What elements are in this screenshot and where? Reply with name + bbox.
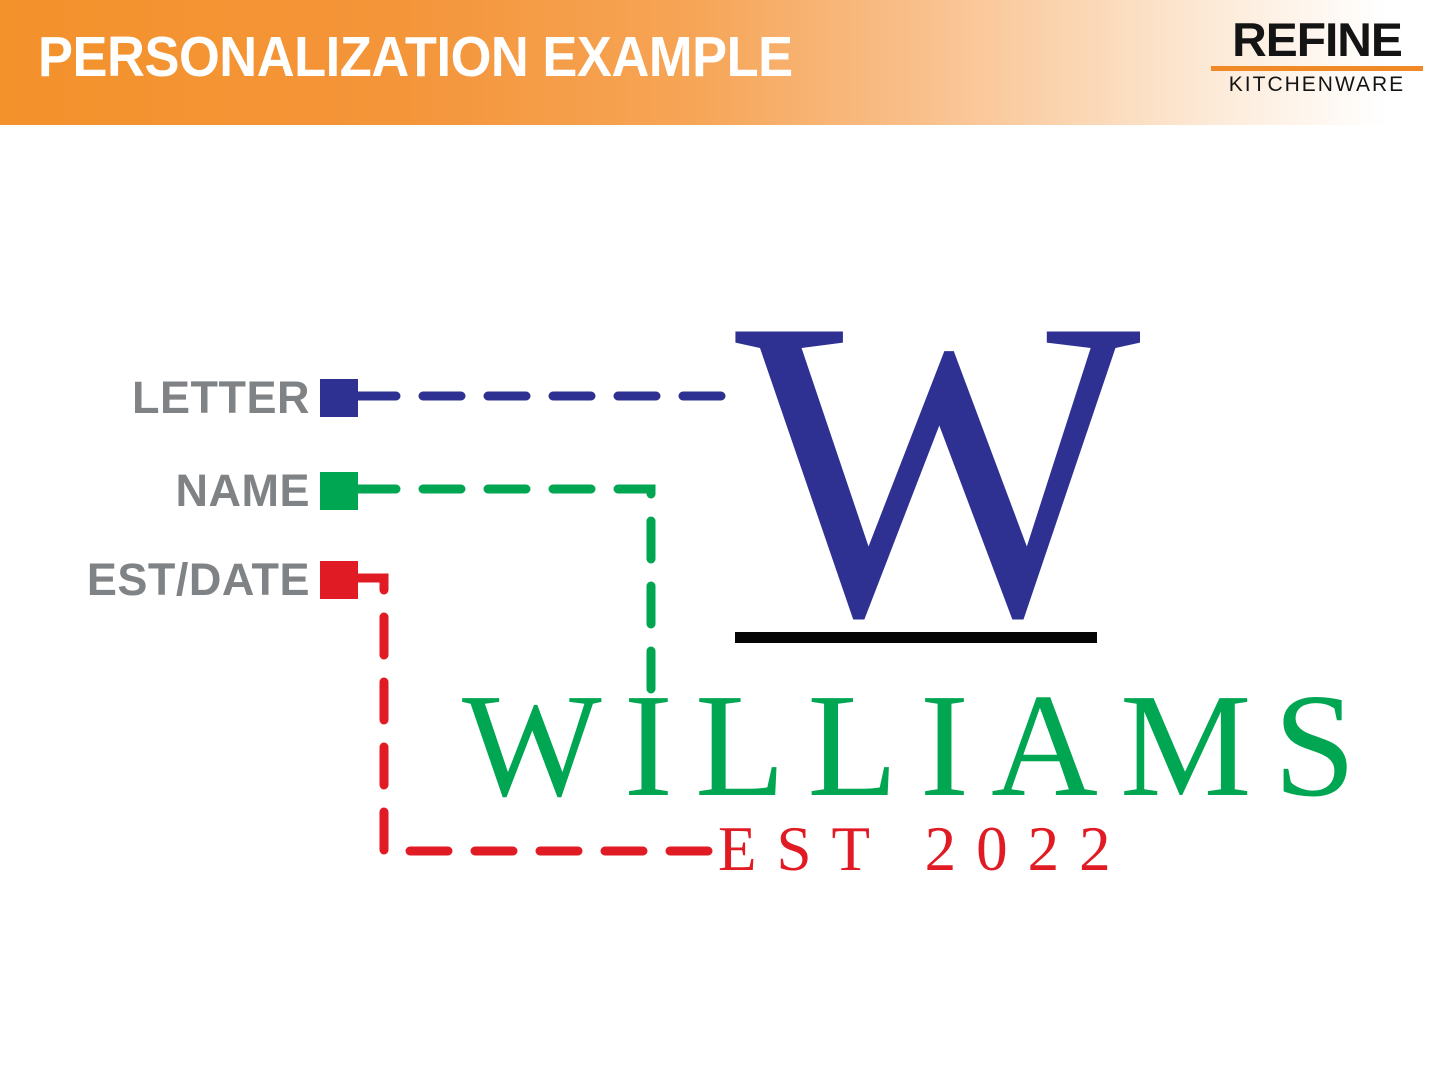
monogram-artwork: W WILLIAMS EST 2022 <box>0 0 1445 1084</box>
monogram-initial: W <box>735 300 1100 640</box>
monogram-surname: WILLIAMS <box>462 672 1378 820</box>
monogram-divider <box>735 632 1097 643</box>
monogram-established: EST 2022 <box>718 818 1131 881</box>
